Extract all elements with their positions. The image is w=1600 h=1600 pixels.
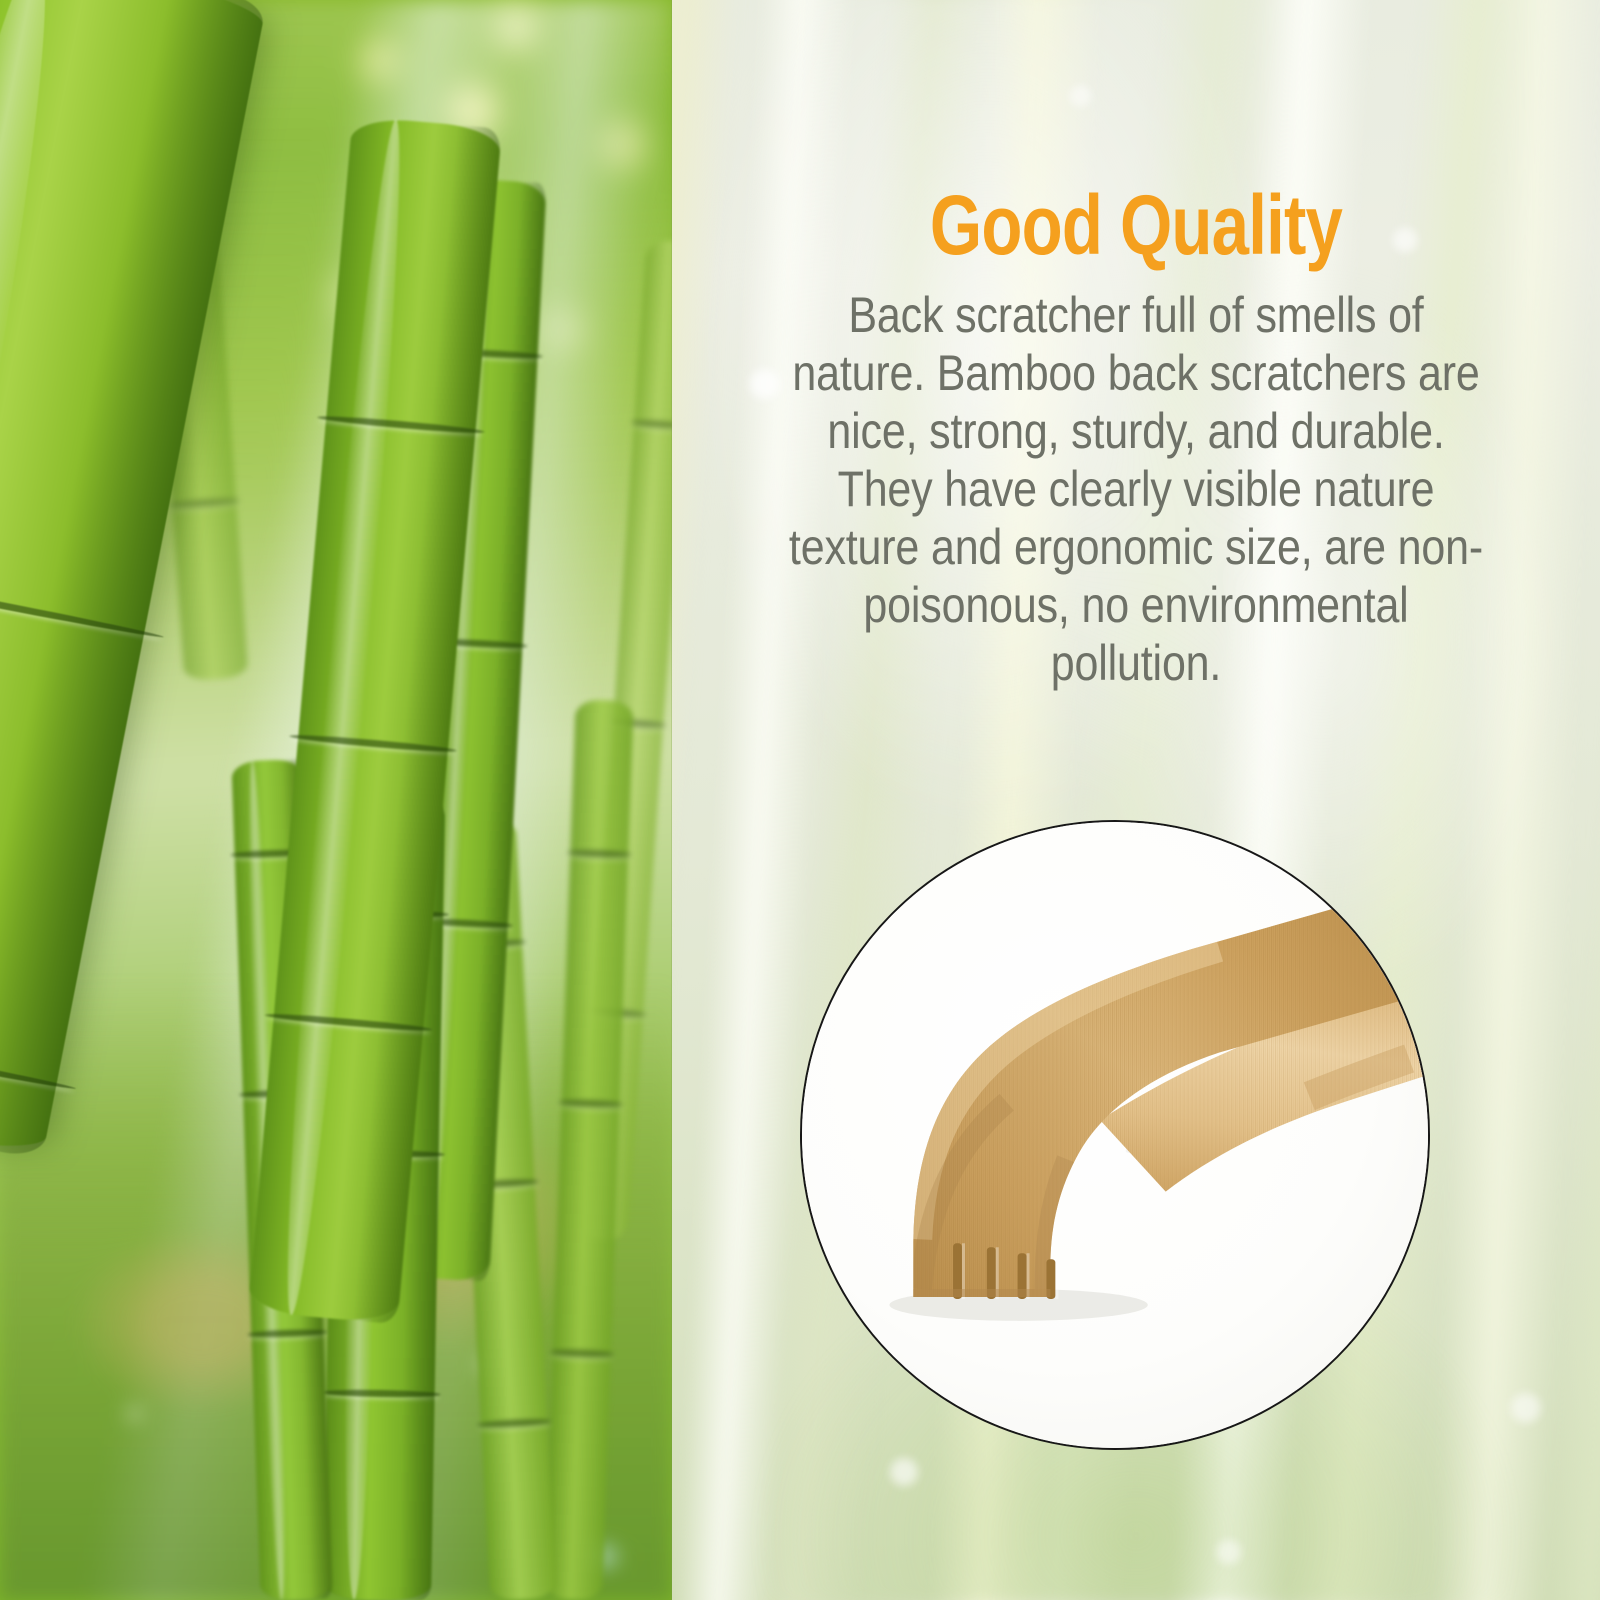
product-image-circle [800,820,1430,1450]
bamboo-back-scratcher-illustration [802,822,1428,1448]
bamboo-forest-photo [0,0,672,1600]
product-description: Back scratcher full of smells of nature.… [789,286,1484,692]
marketing-text-block: Good Quality Back scratcher full of smel… [732,180,1540,692]
product-marketing-image: Good Quality Back scratcher full of smel… [0,0,1600,1600]
product-info-panel: Good Quality Back scratcher full of smel… [672,0,1600,1600]
page-title: Good Quality [813,180,1459,270]
